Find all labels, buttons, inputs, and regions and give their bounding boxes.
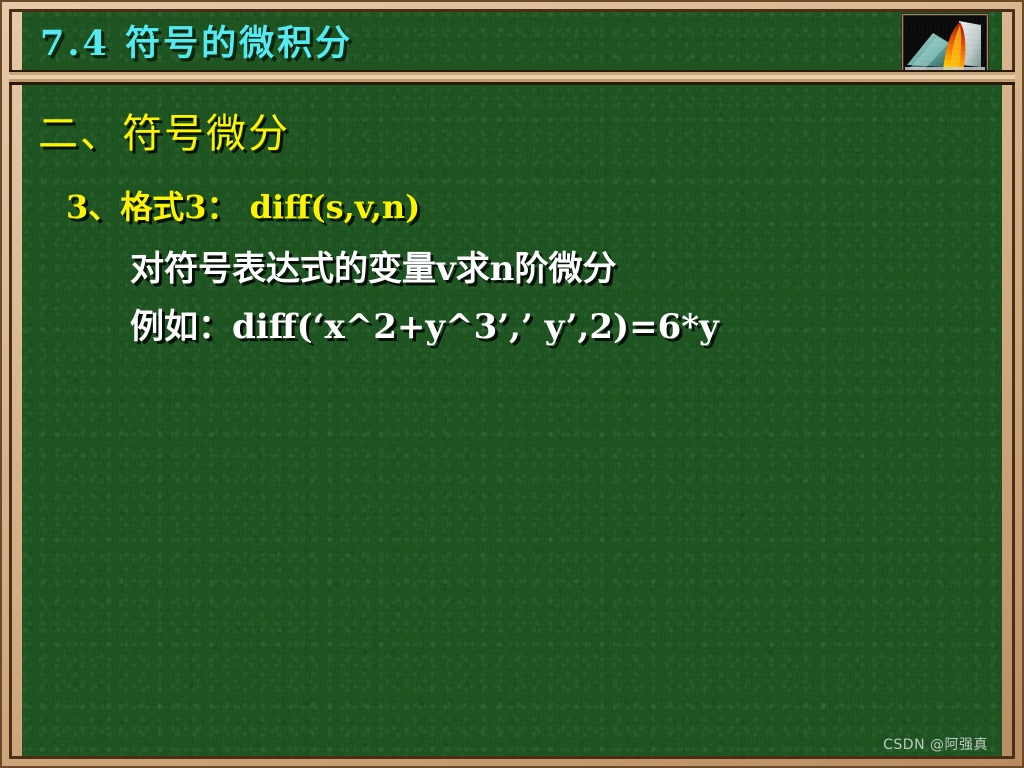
format-example: 例如：diff(‘x^2+y^3’,’ y’,2)=6*y	[130, 309, 1002, 346]
title-band: 7.4 符号的微积分	[22, 12, 1002, 74]
format-item-title: 3、格式3： diff(s,v,n)	[66, 190, 1002, 225]
chalkboard-surface: 7.4 符号的微积分	[22, 12, 1002, 756]
title-divider-rule	[9, 70, 1015, 85]
section-heading: 二、符号微分	[38, 112, 1002, 156]
presentation-slide: 7.4 符号的微积分	[0, 0, 1024, 768]
csdn-watermark: CSDN @阿强真	[883, 734, 988, 754]
slide-body: 二、符号微分 3、格式3： diff(s,v,n) 对符号表达式的变量v求n阶微…	[22, 98, 1002, 346]
format-description: 对符号表达式的变量v求n阶微分	[130, 251, 1002, 288]
slide-title: 7.4 符号的微积分	[40, 26, 353, 61]
